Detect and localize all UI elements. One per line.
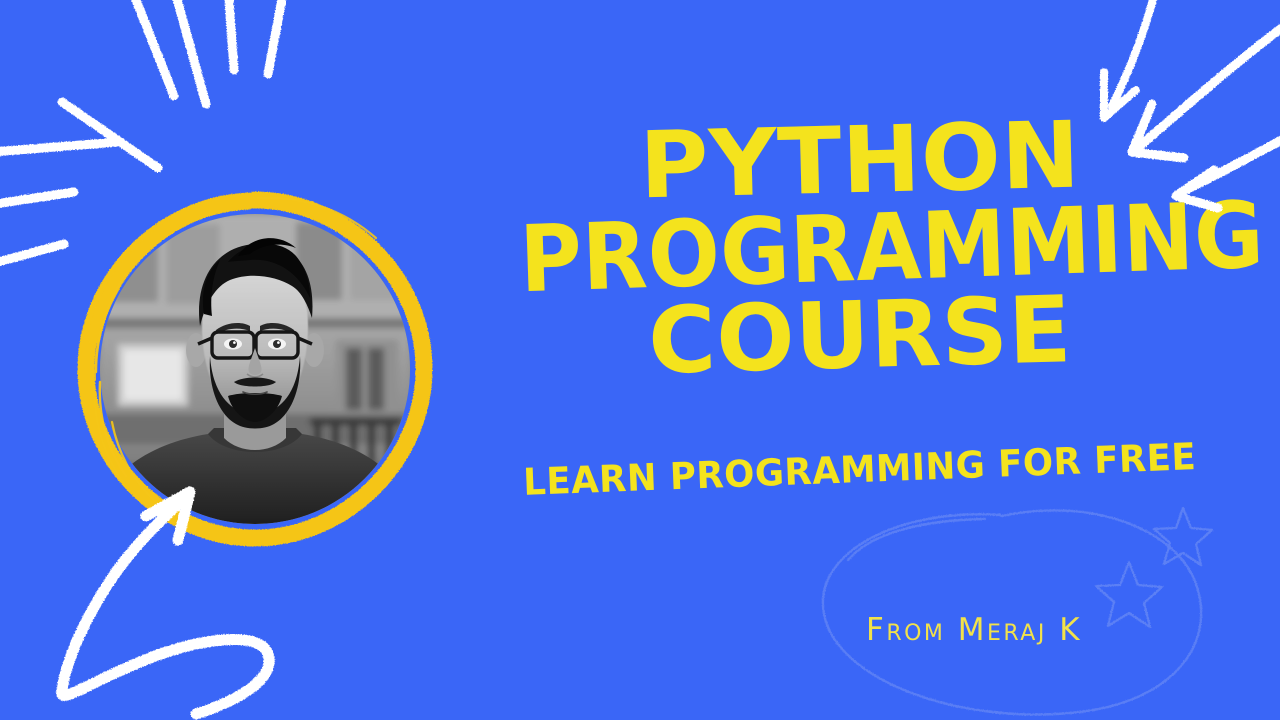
subtitle-text: LEARN PROGRAMMING FOR FREE [523, 435, 1198, 504]
brush-circle-ring-icon [72, 186, 438, 552]
headline-block: PYTHON PROGRAMMING COURSE [490, 118, 1230, 379]
star-outline-icon [1154, 508, 1212, 565]
thumbnail-canvas: PYTHON PROGRAMMING COURSE LEARN PROGRAMM… [0, 0, 1280, 720]
credit-text: From Meraj K [866, 612, 1082, 648]
portrait-avatar [72, 186, 438, 552]
star-outline-icon [1096, 562, 1162, 627]
credit-block: From Meraj K [866, 612, 1082, 648]
subtitle-block: LEARN PROGRAMMING FOR FREE [490, 448, 1230, 491]
